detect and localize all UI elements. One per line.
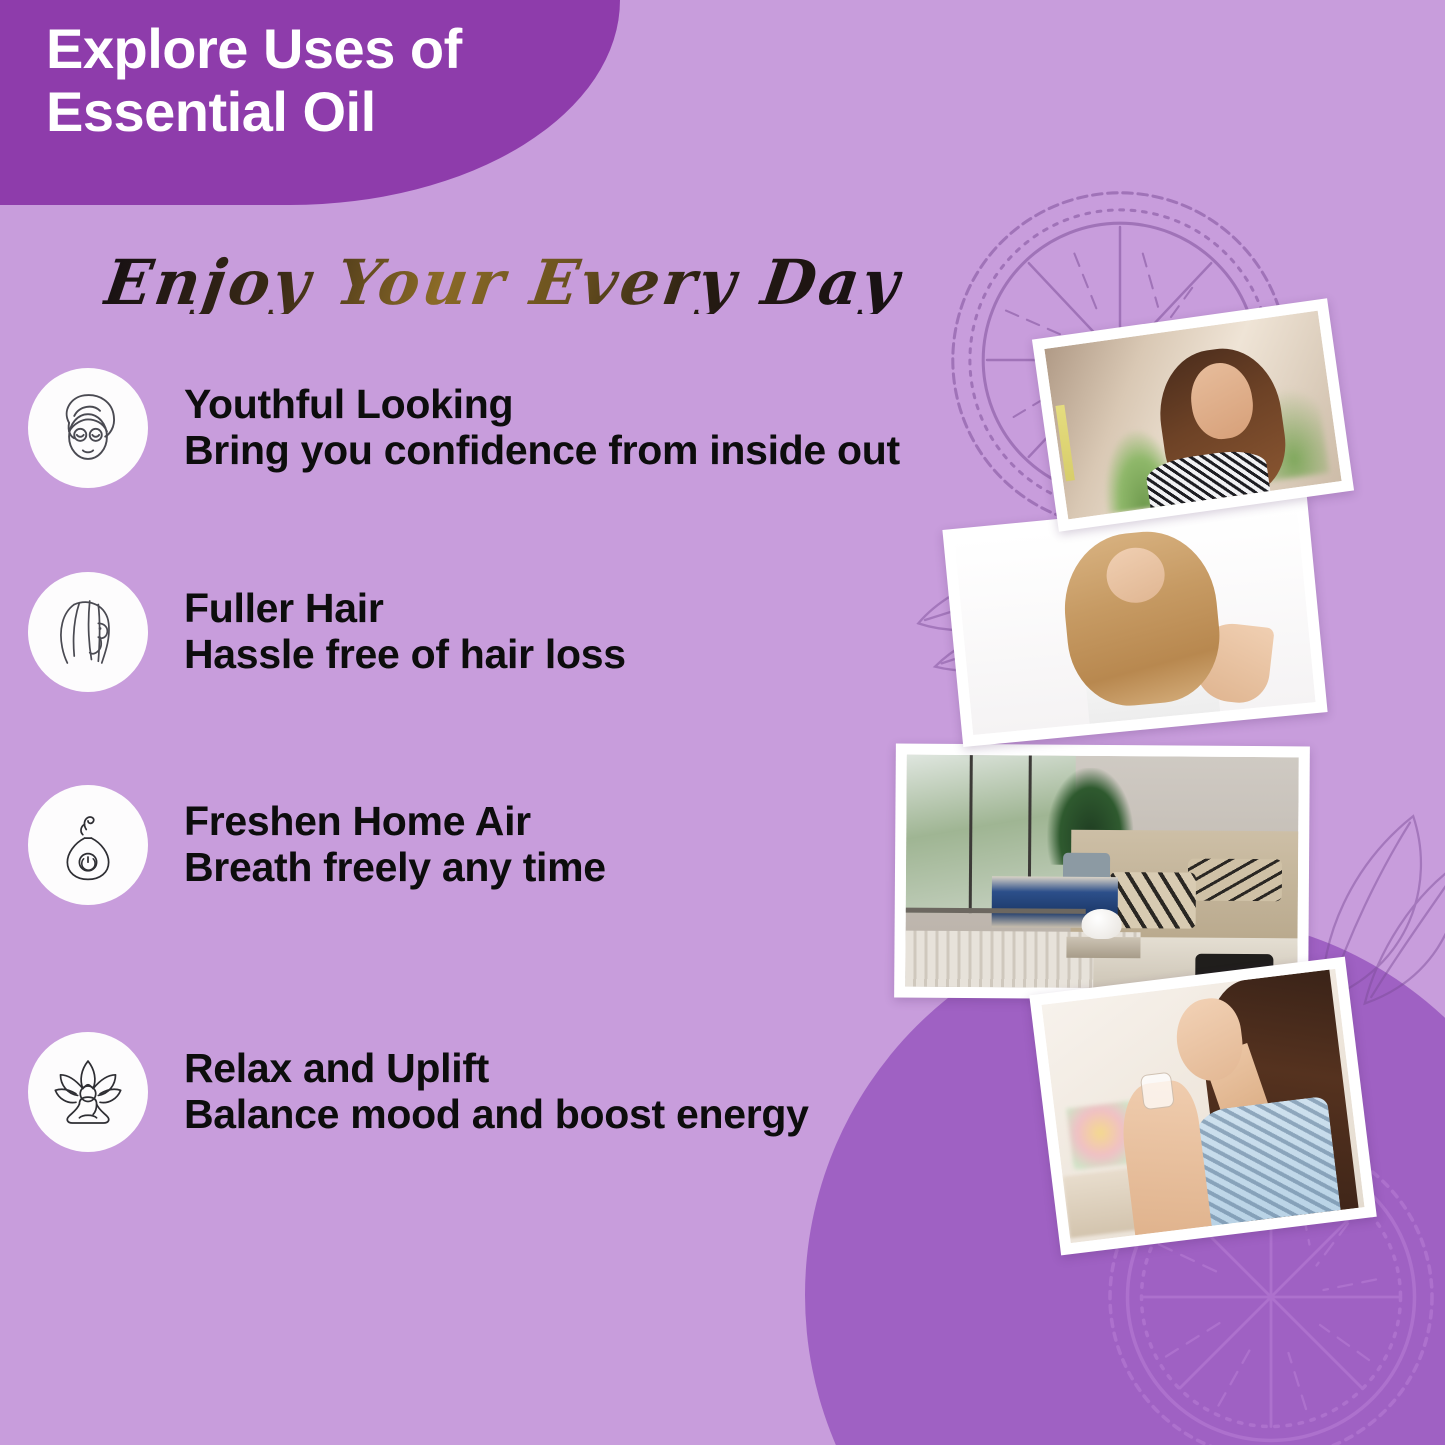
feature-subtitle: Hassle free of hair loss [184, 632, 626, 678]
lotus-meditation-icon [28, 1032, 148, 1152]
photo-image [1041, 969, 1364, 1243]
feature-subtitle: Bring you confidence from inside out [184, 428, 900, 474]
feature-subtitle: Balance mood and boost energy [184, 1092, 809, 1138]
photo-image [1044, 311, 1341, 520]
photo-card-relax [1029, 957, 1377, 1256]
feature-title: Youthful Looking [184, 382, 900, 428]
page-title: Explore Uses of Essential Oil [46, 18, 606, 143]
feature-row: Relax and Uplift Balance mood and boost … [28, 1032, 809, 1152]
feature-subtitle: Breath freely any time [184, 845, 606, 891]
feature-title: Freshen Home Air [184, 799, 606, 845]
tagline: Enjoy Your Every Day [101, 252, 906, 314]
photo-card-hair [942, 495, 1327, 747]
feature-text: Relax and Uplift Balance mood and boost … [184, 1046, 809, 1138]
feature-text: Freshen Home Air Breath freely any time [184, 799, 606, 891]
feature-text: Youthful Looking Bring you confidence fr… [184, 382, 900, 474]
feature-row: Youthful Looking Bring you confidence fr… [28, 368, 900, 488]
photo-card-home-air [894, 744, 1310, 1001]
face-mask-icon [28, 368, 148, 488]
photo-image [905, 755, 1299, 990]
feature-row: Freshen Home Air Breath freely any time [28, 785, 606, 905]
feature-row: Fuller Hair Hassle free of hair loss [28, 572, 626, 692]
diffuser-icon [28, 785, 148, 905]
poster-canvas: Explore Uses of Essential Oil Enjoy Your… [0, 0, 1445, 1445]
photo-image [954, 507, 1315, 735]
feature-title: Relax and Uplift [184, 1046, 809, 1092]
photo-card-youthful [1032, 298, 1354, 532]
hair-profile-icon [28, 572, 148, 692]
feature-text: Fuller Hair Hassle free of hair loss [184, 586, 626, 678]
feature-title: Fuller Hair [184, 586, 626, 632]
